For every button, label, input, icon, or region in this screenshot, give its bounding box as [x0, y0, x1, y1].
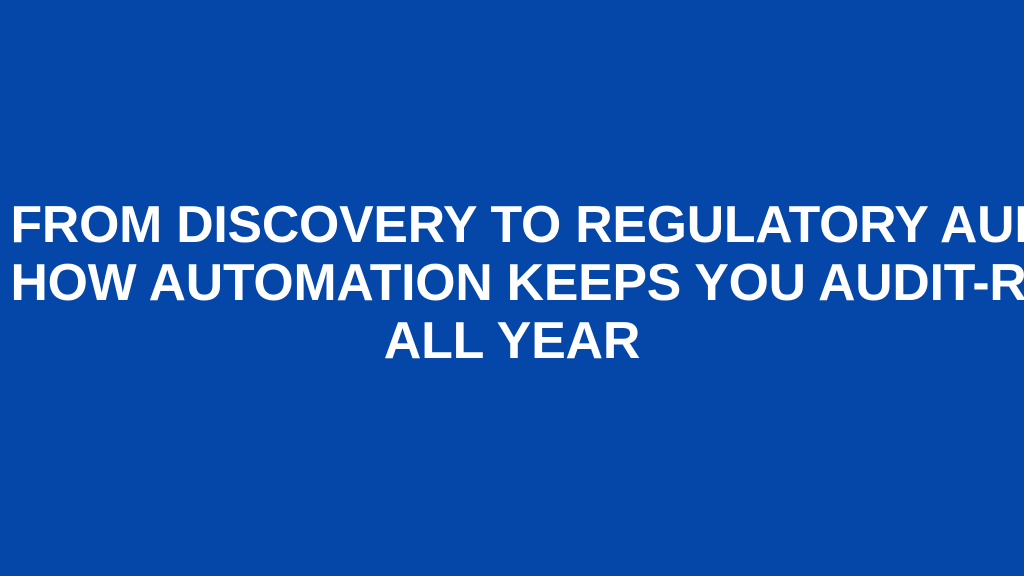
title-card-background: FROM DISCOVERY TO REGULATORY AUDIT: HOW …	[0, 0, 1024, 576]
headline-block: FROM DISCOVERY TO REGULATORY AUDIT: HOW …	[0, 196, 1024, 370]
headline-line-3: ALL YEAR	[8, 312, 1016, 370]
headline-line-1: FROM DISCOVERY TO REGULATORY AUDIT:	[11, 196, 1014, 254]
headline-line-2: HOW AUTOMATION KEEPS YOU AUDIT-READY	[11, 254, 1014, 312]
